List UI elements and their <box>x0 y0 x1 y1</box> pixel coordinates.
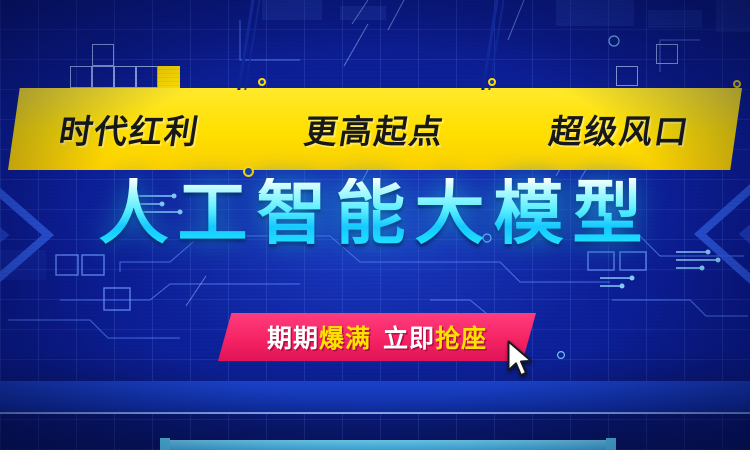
ribbon-node-dot <box>258 78 266 86</box>
tagline-label: 超级风口 <box>546 105 694 153</box>
tagline-item-3: 超级风口 <box>497 105 742 153</box>
ribbon-node-dot <box>733 80 741 88</box>
cta-part-2: 爆满 <box>319 324 371 353</box>
cta-button[interactable]: 期期爆满立即抢座 <box>218 313 536 361</box>
decorative-block <box>0 250 46 280</box>
cta-part-1: 期期 <box>267 324 319 353</box>
decorative-square <box>92 66 114 88</box>
ribbon-node-dot <box>488 78 496 86</box>
decorative-square <box>114 66 136 88</box>
cta-part-3: 立即 <box>383 324 435 353</box>
bottom-progress-bar <box>168 440 608 450</box>
decorative-block <box>716 0 750 32</box>
tagline-item-2: 更高起点 <box>253 105 498 153</box>
decorative-block <box>262 0 322 20</box>
decorative-square <box>656 44 678 64</box>
decorative-square <box>70 66 92 88</box>
decorative-square <box>136 66 158 88</box>
tagline-item-1: 时代红利 <box>8 105 253 153</box>
cta-part-4: 抢座 <box>435 324 487 353</box>
tagline-ribbon: 时代红利 更高起点 超级风口 <box>8 88 742 170</box>
cta-label: 期期爆满立即抢座 <box>267 319 487 355</box>
decorative-block <box>340 6 386 20</box>
decorative-block <box>648 10 702 28</box>
decorative-square <box>92 44 114 66</box>
tagline-label: 更高起点 <box>301 105 449 153</box>
ai-course-promo-banner: 时代红利 更高起点 超级风口 人工智能大模型 人工智能大模型 期期爆满立即抢座 … <box>0 0 750 450</box>
decorative-square <box>616 66 638 86</box>
bottom-band <box>0 381 750 414</box>
tagline-label: 时代红利 <box>57 105 205 153</box>
decorative-square-filled <box>158 66 180 88</box>
page-title: 人工智能大模型 <box>0 178 750 248</box>
decorative-block <box>556 0 634 26</box>
